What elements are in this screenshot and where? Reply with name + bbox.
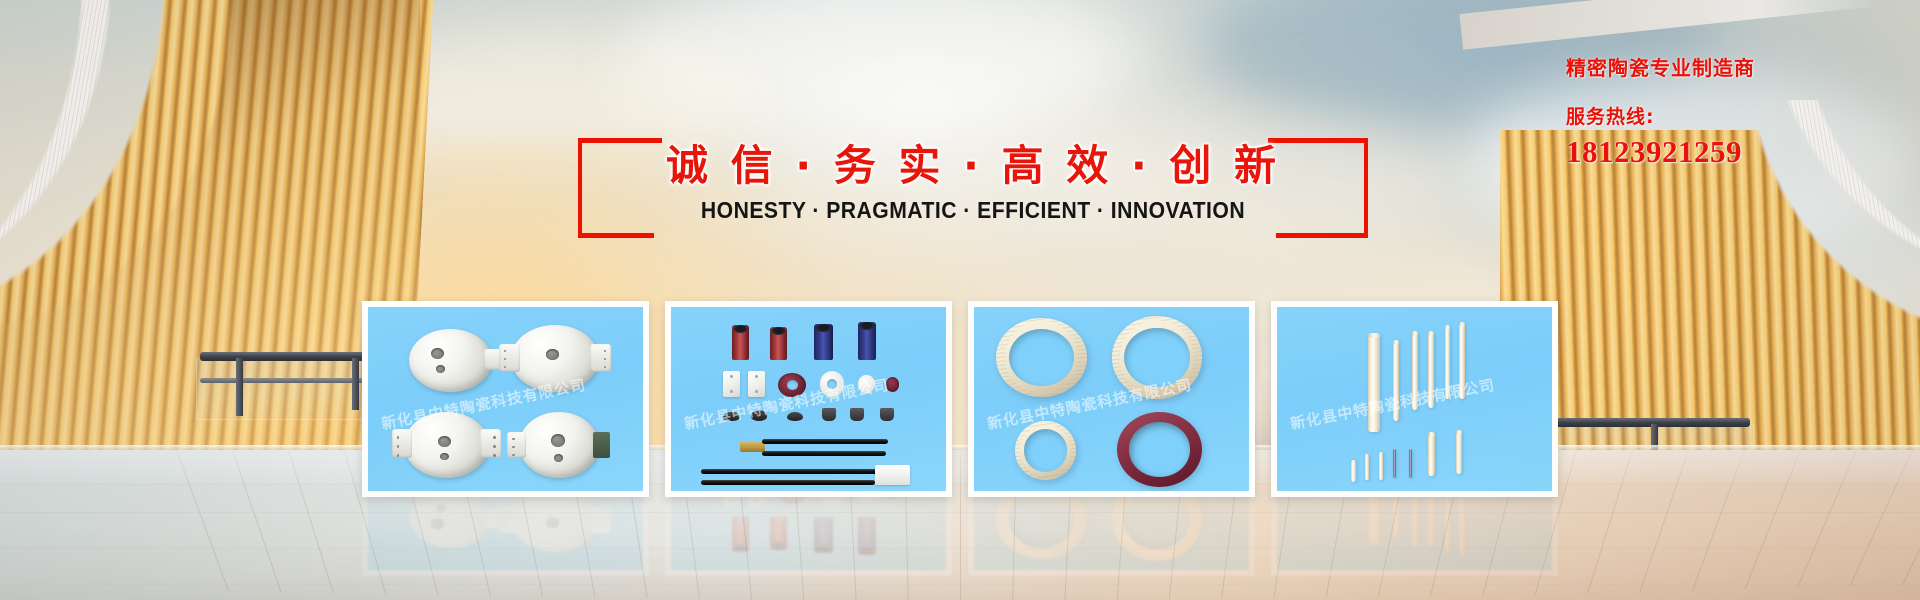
railing-post (236, 358, 243, 416)
gold-connector (740, 441, 765, 452)
cream-ceramic-ring (1112, 316, 1203, 399)
ceramic-rod-small (1351, 460, 1355, 482)
left-canopy-structure (0, 0, 420, 520)
product-card-ceramic-lamp-holders[interactable]: 新化县中特陶瓷科技有限公司 (362, 301, 649, 497)
blue-ceramic-tube (858, 322, 876, 361)
slogan-block: 诚 信 · 务 实 · 高 效 · 创 新 HONESTY · PRAGMATI… (578, 138, 1368, 242)
lamp-holder-part (519, 412, 599, 478)
maroon-ceramic-bead (886, 377, 900, 392)
lamp-holder-part (409, 329, 492, 392)
blue-ceramic-tube (814, 324, 833, 361)
ceramic-rod-small (1365, 454, 1369, 480)
product-card-ceramic-components[interactable]: 新化县中特陶瓷科技有限公司 (665, 301, 952, 497)
white-ceramic-ring (820, 371, 845, 397)
hotline-label: 服务热线: (1566, 102, 1906, 129)
purple-ceramic-pin (1393, 449, 1396, 478)
ceramic-rod (1428, 331, 1434, 408)
ceramic-plate (723, 371, 740, 397)
slogan-chinese: 诚 信 · 务 实 · 高 效 · 创 新 (578, 132, 1368, 193)
ceramic-rod (1393, 340, 1399, 421)
ceramic-rod-small (1379, 452, 1383, 480)
contact-chip (822, 408, 836, 421)
product-card-strip: 新化县中特陶瓷科技有限公司 (362, 301, 1558, 497)
maroon-ceramic-ring (778, 373, 806, 397)
company-tagline: 精密陶瓷专业制造商 (1566, 52, 1906, 81)
contact-chip (751, 410, 768, 421)
card-photo-area: 新化县中特陶瓷科技有限公司 (1277, 307, 1552, 491)
black-wire (701, 480, 874, 485)
card-watermark: 新化县中特陶瓷科技有限公司 (682, 363, 945, 434)
cream-ceramic-ring-small (1015, 421, 1076, 480)
contact-block: 精密陶瓷专业制造商 服务热线: 18123921259 (1566, 52, 1906, 170)
card-photo-area: 新化县中特陶瓷科技有限公司 (671, 307, 946, 491)
slogan-english: HONESTY · PRAGMATIC · EFFICIENT · INNOVA… (610, 197, 1337, 224)
product-card-ceramic-rods[interactable]: 新化县中特陶瓷科技有限公司 (1271, 301, 1558, 497)
white-ceramic-bead (858, 375, 875, 393)
ceramic-rod-thick (1368, 333, 1380, 432)
railing-post (352, 358, 359, 410)
left-bracket-bottom (578, 233, 654, 238)
contact-chip (787, 412, 804, 421)
right-bracket-bottom (1276, 233, 1368, 238)
lamp-holder-part (404, 412, 489, 478)
right-canopy-top-edge (1459, 0, 1880, 50)
red-ceramic-tube (732, 325, 750, 360)
product-card-ceramic-rings[interactable]: 新化县中特陶瓷科技有限公司 (968, 301, 1255, 497)
white-connector (875, 465, 911, 485)
contact-chip (723, 412, 740, 421)
promotional-banner: 新化县中特陶瓷科技有限公司 (0, 0, 1920, 600)
maroon-ceramic-ring (1117, 412, 1202, 487)
card-photo-area: 新化县中特陶瓷科技有限公司 (368, 307, 643, 491)
contact-chip (880, 408, 894, 421)
ceramic-rod-small (1456, 430, 1462, 474)
ceramic-plate (748, 371, 765, 397)
left-handrail-lower (200, 378, 372, 383)
black-wire (701, 469, 877, 474)
ceramic-rod-thin (1459, 322, 1465, 399)
card-watermark: 新化县中特陶瓷科技有限公司 (1288, 363, 1551, 434)
black-wire (762, 451, 886, 456)
ceramic-rod-thin (1445, 325, 1450, 399)
hotline-number[interactable]: 18123921259 (1566, 134, 1906, 170)
black-wire (762, 439, 889, 444)
lamp-holder-part (511, 325, 599, 391)
card-photo-area: 新化县中特陶瓷科技有限公司 (974, 307, 1249, 491)
ceramic-rod (1412, 331, 1419, 410)
purple-ceramic-pin (1409, 449, 1412, 478)
cream-ceramic-ring (996, 318, 1087, 397)
contact-chip (850, 408, 864, 421)
ceramic-rod-small (1428, 432, 1435, 476)
red-ceramic-tube (770, 327, 787, 360)
